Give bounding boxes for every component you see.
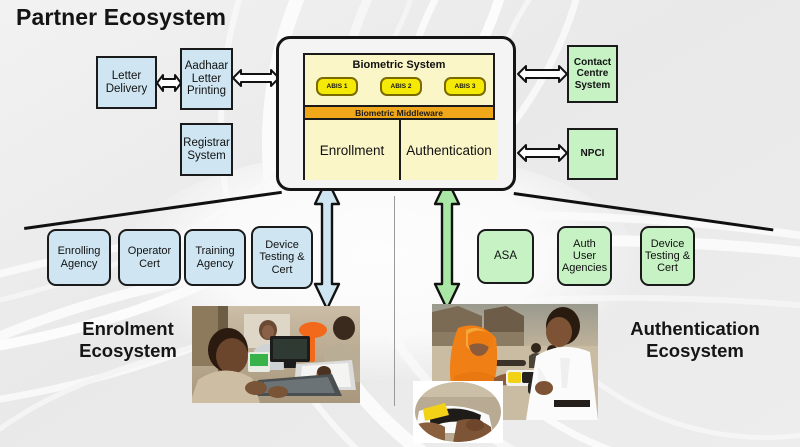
partner-box-aadhaar-letter-printing[interactable]: Aadhaar Letter Printing	[180, 48, 233, 110]
divider-line-left	[24, 191, 282, 230]
ecosystem-box-label: Device Testing & Cert	[645, 238, 690, 275]
biometric-middleware-bar: Biometric Middleware	[305, 105, 493, 120]
partner-box-label: Contact Centre System	[574, 57, 611, 91]
partner-box-npci[interactable]: NPCI	[567, 128, 618, 180]
ecosystem-box-device-testing-cert-enrol[interactable]: Device Testing & Cert	[251, 226, 313, 289]
ecosystem-box-label: ASA	[494, 250, 517, 263]
abis-label: ABIS 1	[327, 83, 348, 90]
page-title: Partner Ecosystem	[16, 4, 226, 31]
partner-box-contact-centre-system[interactable]: Contact Centre System	[567, 45, 618, 103]
ecosystem-box-label: Device Testing & Cert	[259, 239, 304, 276]
partner-box-registrar-system[interactable]: Registrar System	[180, 123, 233, 176]
biometric-system-panel: Biometric System ABIS 1 ABIS 2 ABIS 3 Bi…	[303, 53, 495, 180]
ecosystem-box-training-agency[interactable]: Training Agency	[184, 229, 246, 286]
ecosystem-divider	[394, 196, 395, 406]
enrollment-label: Enrollment	[320, 143, 385, 158]
partner-box-label: Letter Delivery	[106, 70, 148, 96]
authentication-label: Authentication	[406, 143, 492, 158]
connector-biometric-system-to-contact-centre	[516, 60, 569, 88]
ecosystem-box-asa[interactable]: ASA	[477, 229, 534, 284]
ecosystem-box-label: Operator Cert	[128, 245, 171, 270]
biometric-middleware-label: Biometric Middleware	[355, 108, 443, 118]
ecosystem-box-label: Training Agency	[195, 245, 234, 270]
authentication-device-inset	[413, 381, 503, 443]
abis-label: ABIS 3	[455, 83, 476, 90]
enrolment-ecosystem-label: Enrolment Ecosystem	[48, 318, 208, 362]
ecosystem-box-enrolling-agency[interactable]: Enrolling Agency	[47, 229, 111, 286]
connector-biometric-system-to-npci	[516, 139, 569, 167]
partner-box-label: NPCI	[581, 148, 605, 159]
ecosystem-box-device-testing-cert-auth[interactable]: Device Testing & Cert	[640, 226, 695, 286]
biometric-system-title: Biometric System	[305, 59, 493, 71]
authentication-device-inset-image	[413, 381, 503, 443]
connector-aadhaar-printing-to-biometric-system	[231, 64, 281, 92]
central-system-container: Biometric System ABIS 1 ABIS 2 ABIS 3 Bi…	[276, 36, 516, 191]
divider-line-right	[514, 192, 774, 231]
enrollment-pane[interactable]: Enrollment	[305, 120, 401, 180]
partner-box-letter-delivery[interactable]: Letter Delivery	[96, 56, 157, 109]
connector-letter-delivery-to-aadhaar-printing	[155, 69, 183, 97]
diagram-canvas: Partner Ecosystem Letter Delivery Aadhaa…	[0, 0, 800, 447]
enrolment-photo	[192, 306, 360, 403]
ecosystem-box-auth-user-agencies[interactable]: Auth User Agencies	[557, 226, 612, 286]
abis-3-chip[interactable]: ABIS 3	[444, 77, 486, 96]
authentication-ecosystem-label: Authentication Ecosystem	[600, 318, 790, 362]
abis-label: ABIS 2	[391, 83, 412, 90]
ecosystem-box-operator-cert[interactable]: Operator Cert	[118, 229, 181, 286]
partner-box-label: Aadhaar Letter Printing	[185, 60, 228, 99]
ecosystem-box-label: Auth User Agencies	[562, 238, 607, 275]
authentication-pane[interactable]: Authentication	[401, 120, 497, 180]
connector-authentication-to-auth-ecosystem	[430, 176, 464, 312]
connector-enrollment-to-enrolment-ecosystem	[310, 176, 344, 312]
abis-2-chip[interactable]: ABIS 2	[380, 77, 422, 96]
ecosystem-box-label: Enrolling Agency	[58, 245, 101, 270]
partner-box-label: Registrar System	[183, 137, 230, 163]
abis-1-chip[interactable]: ABIS 1	[316, 77, 358, 96]
enrolment-photo-image	[192, 306, 360, 403]
